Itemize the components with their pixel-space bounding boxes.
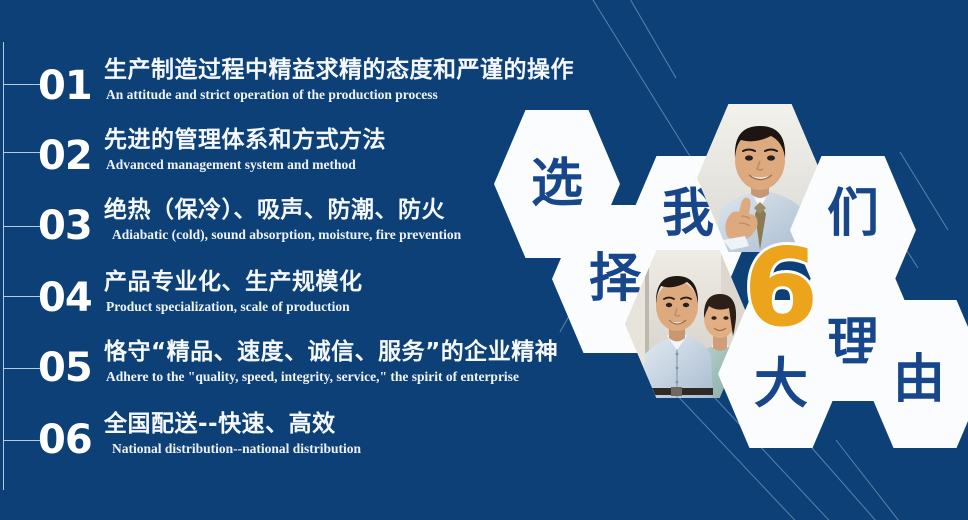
hexagon-cluster: 选 择 我	[0, 0, 968, 520]
accent-number-six: 6	[743, 235, 818, 343]
promo-banner: 01 生产制造过程中精益求精的态度和严谨的操作 An attitude and …	[0, 0, 968, 520]
hexagon-cell-six: 6	[718, 215, 844, 363]
hexagon-glyph: 由	[893, 354, 945, 406]
hexagon-glyph: 选	[531, 158, 583, 210]
hexagon-glyph: 大	[754, 357, 808, 411]
hexagon-glyph: 择	[589, 253, 641, 305]
